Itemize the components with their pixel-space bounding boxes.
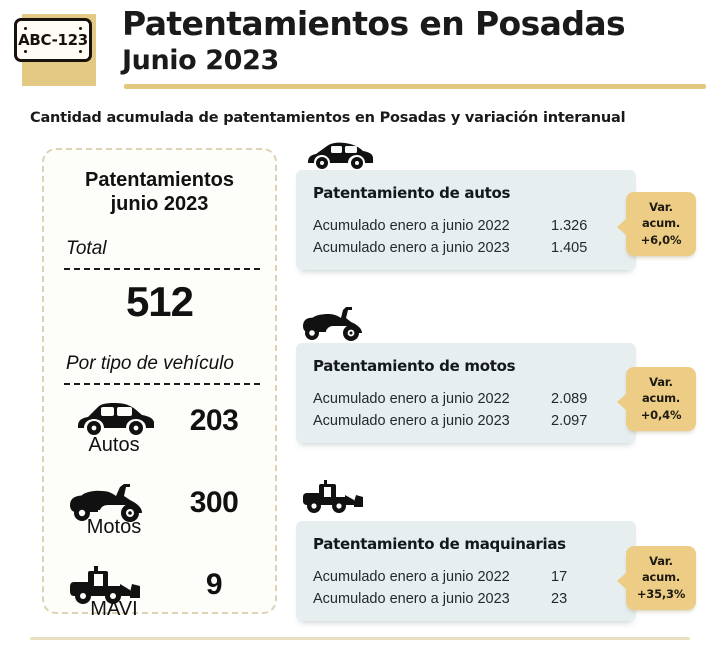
- row-value: 1.405: [551, 240, 587, 256]
- vehicle-row-motos: Motos 300: [44, 480, 275, 556]
- page-title: Patentamientos en Posadas: [122, 4, 625, 43]
- badge-line-2: acum.: [628, 569, 694, 585]
- license-plate-icon: ABC-123: [14, 18, 92, 62]
- total-label: Total: [66, 238, 107, 260]
- vehicle-row-autos: Autos 203: [44, 398, 275, 474]
- by-type-separator: [64, 383, 260, 385]
- scooter-icon: [302, 305, 374, 345]
- vehicle-row-mavi: MAVI 9: [44, 562, 275, 638]
- vehicle-name: Motos: [68, 516, 160, 539]
- plate-bolt-bottom-right: [79, 50, 82, 53]
- plate-bolt-top-left: [24, 27, 27, 30]
- card-title: Patentamiento de maquinarias: [313, 535, 566, 553]
- plate-bolt-top-right: [79, 27, 82, 30]
- vehicle-count: 9: [164, 568, 264, 602]
- row-value: 2.089: [551, 391, 587, 407]
- card-data-row: Acumulado enero a junio 2022 1.326: [313, 218, 623, 240]
- loader-icon: [302, 478, 374, 518]
- card-body: Patentamiento de autos Acumulado enero a…: [296, 170, 636, 270]
- badge-value: +35,3%: [628, 586, 694, 602]
- plate-bolt-bottom-left: [24, 50, 27, 53]
- badge-line-1: Var.: [628, 553, 694, 569]
- row-value: 1.326: [551, 218, 587, 234]
- card-data-row: Acumulado enero a junio 2022 2.089: [313, 391, 623, 413]
- variation-badge: Var. acum. +0,4%: [626, 367, 696, 431]
- header-divider: [124, 84, 706, 89]
- row-label: Acumulado enero a junio 2023: [313, 413, 510, 429]
- badge-value: +6,0%: [628, 232, 694, 248]
- card-body: Patentamiento de motos Acumulado enero a…: [296, 343, 636, 443]
- summary-heading: Patentamientos junio 2023: [44, 168, 275, 217]
- page-subtitle-period: Junio 2023: [122, 45, 279, 76]
- row-label: Acumulado enero a junio 2022: [313, 391, 510, 407]
- row-label: Acumulado enero a junio 2022: [313, 569, 510, 585]
- vehicle-name: Autos: [68, 434, 160, 457]
- variation-badge: Var. acum. +6,0%: [626, 192, 696, 256]
- total-separator: [64, 268, 260, 270]
- vehicle-count: 203: [164, 404, 264, 438]
- footer-divider: [30, 637, 690, 640]
- badge-line-1: Var.: [628, 374, 694, 390]
- plate-text: ABC-123: [18, 31, 88, 49]
- row-label: Acumulado enero a junio 2023: [313, 240, 510, 256]
- badge-line-1: Var.: [628, 199, 694, 215]
- vehicle-count: 300: [164, 486, 264, 520]
- row-label: Acumulado enero a junio 2023: [313, 591, 510, 607]
- row-label: Acumulado enero a junio 2022: [313, 218, 510, 234]
- row-value: 17: [551, 569, 567, 585]
- badge-line-2: acum.: [628, 215, 694, 231]
- row-value: 23: [551, 591, 567, 607]
- badge-value: +0,4%: [628, 407, 694, 423]
- summary-panel: Patentamientos junio 2023 Total 512 Por …: [42, 148, 277, 614]
- summary-heading-line2: junio 2023: [44, 192, 275, 216]
- header: ABC-123 Patentamientos en Posadas Junio …: [0, 0, 720, 100]
- badge-line-2: acum.: [628, 390, 694, 406]
- card-title: Patentamiento de autos: [313, 184, 510, 202]
- row-value: 2.097: [551, 413, 587, 429]
- variation-badge: Var. acum. +35,3%: [626, 546, 696, 610]
- card-title: Patentamiento de motos: [313, 357, 515, 375]
- card-data-row: Acumulado enero a junio 2023 2.097: [313, 413, 623, 435]
- total-value: 512: [44, 278, 275, 326]
- by-type-label: Por tipo de vehículo: [66, 353, 234, 375]
- card-data-row: Acumulado enero a junio 2023 23: [313, 591, 623, 613]
- card-body: Patentamiento de maquinarias Acumulado e…: [296, 521, 636, 621]
- summary-heading-line1: Patentamientos: [44, 168, 275, 192]
- card-data-row: Acumulado enero a junio 2023 1.405: [313, 240, 623, 262]
- card-data-row: Acumulado enero a junio 2022 17: [313, 569, 623, 591]
- section-description: Cantidad acumulada de patentamientos en …: [30, 110, 625, 126]
- vehicle-name: MAVI: [68, 598, 160, 621]
